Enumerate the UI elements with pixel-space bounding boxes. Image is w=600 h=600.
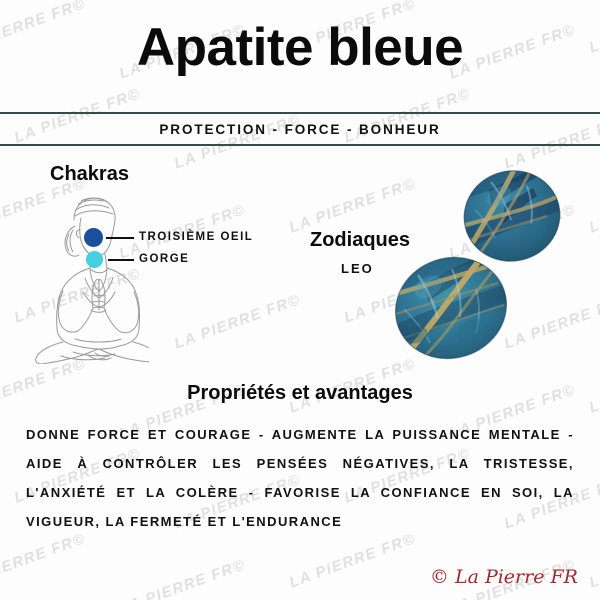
zodiac-sign-list: LEO	[341, 261, 374, 276]
page-title: Apatite bleue	[0, 20, 600, 76]
stone-info-card: LA PIERRE FR©LA PIERRE FR©LA PIERRE FR©L…	[0, 0, 600, 600]
properties-body-text: DONNE FORCE ET COURAGE - AUGMENTE LA PUI…	[26, 420, 574, 536]
subtitle-band: PROTECTION - FORCE - BONHEUR	[0, 112, 600, 146]
chakra-label-third-eye: TROISIÈME OEIL	[139, 231, 253, 243]
chakras-heading: Chakras	[50, 163, 129, 186]
watermark-text: LA PIERRE FR©	[287, 530, 418, 591]
watermark-text: LA PIERRE FR©	[287, 175, 418, 236]
chakra-label-throat: GORGE	[139, 253, 189, 265]
leader-line-throat	[108, 259, 134, 261]
meditating-figure-icon	[33, 192, 149, 364]
leader-line-third-eye	[106, 237, 134, 239]
watermark-text: LA PIERRE FR©	[502, 291, 600, 352]
footer-signature: © La Pierre FR	[430, 566, 578, 588]
watermark-text: LA PIERRE FR©	[587, 530, 600, 591]
watermark-text: LA PIERRE FR©	[117, 556, 248, 600]
apatite-stone-lower	[392, 253, 510, 363]
watermark-text: LA PIERRE FR©	[0, 530, 88, 591]
watermark-text: LA PIERRE FR©	[587, 175, 600, 236]
watermark-text: LA PIERRE FR©	[172, 291, 303, 352]
subtitle-text: PROTECTION - FORCE - BONHEUR	[0, 114, 600, 144]
chakra-dot-third-eye	[84, 228, 103, 247]
apatite-stone-upper	[461, 166, 563, 266]
properties-heading: Propriétés et avantages	[0, 382, 600, 405]
chakra-dot-throat	[86, 251, 103, 268]
divider-bottom	[0, 144, 600, 146]
zodiac-heading: Zodiaques	[310, 229, 410, 252]
